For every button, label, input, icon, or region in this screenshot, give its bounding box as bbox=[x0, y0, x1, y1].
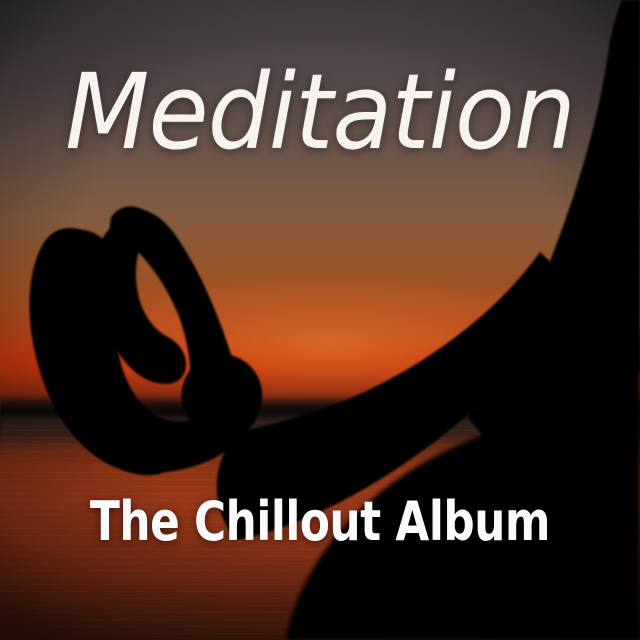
album-subtitle: The Chillout Album bbox=[32, 494, 608, 551]
album-cover-artwork: Meditation The Chillout Album bbox=[0, 0, 640, 640]
album-title: Meditation bbox=[19, 58, 621, 167]
